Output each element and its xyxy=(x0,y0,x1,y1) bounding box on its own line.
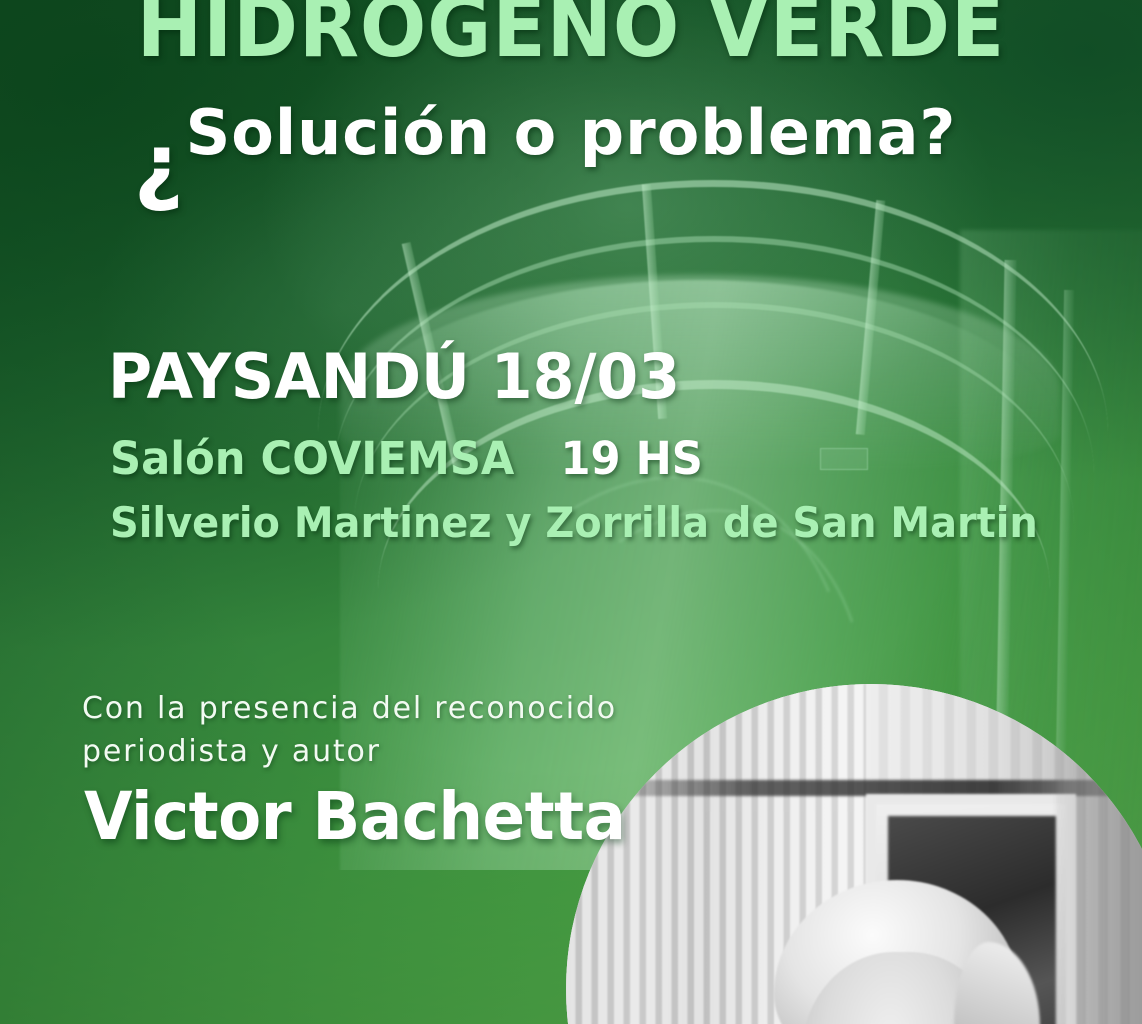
city-and-date: PAYSANDÚ 18/03 xyxy=(108,340,680,413)
subtitle-text: Solución o problema? xyxy=(186,96,957,169)
venue-and-time-row: Salón COVIEMSA19 HS xyxy=(110,432,703,485)
subtitle-row: ¿ Solución o problema? xyxy=(0,96,1142,169)
presenter-intro-text: Con la presencia del reconocido periodis… xyxy=(82,688,617,773)
event-poster: HIDRÓGENO VERDE ¿ Solución o problema? P… xyxy=(0,0,1142,1024)
event-time: 19 HS xyxy=(560,432,702,485)
street-address: Silverio Martinez y Zorrilla de San Mart… xyxy=(110,498,1038,547)
inverted-question-mark: ¿ xyxy=(134,122,185,208)
presenter-name: Victor Bachetta xyxy=(84,778,625,855)
subtitle: ¿ Solución o problema? xyxy=(186,96,957,169)
venue-name: Salón COVIEMSA xyxy=(110,432,514,485)
text-layer: HIDRÓGENO VERDE ¿ Solución o problema? P… xyxy=(0,0,1142,1024)
page-title: HIDRÓGENO VERDE xyxy=(40,0,1102,76)
